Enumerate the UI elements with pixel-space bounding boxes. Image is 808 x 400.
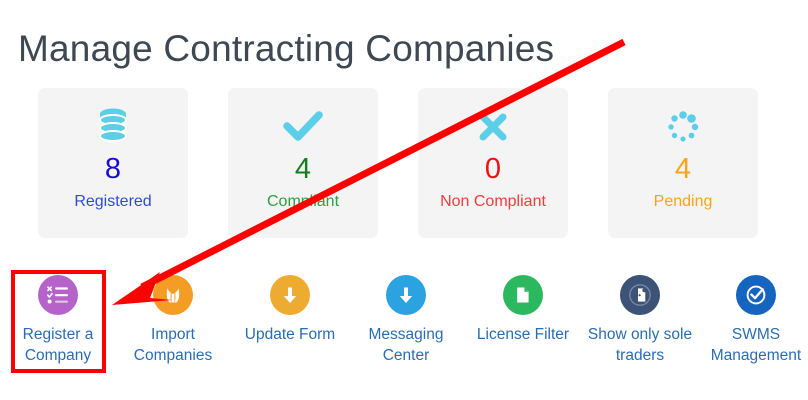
- action-swms-management[interactable]: SWMS Management: [700, 272, 808, 366]
- action-update-form[interactable]: Update Form: [234, 272, 346, 345]
- spinner-icon: [663, 104, 703, 150]
- action-show-only-sole-traders[interactable]: Show only sole traders: [584, 272, 696, 366]
- circle-check-icon: [736, 272, 776, 318]
- stat-card-pending[interactable]: 4 Pending: [608, 88, 758, 238]
- stat-card-registered[interactable]: 8 Registered: [38, 88, 188, 238]
- stat-value: 0: [485, 152, 501, 186]
- database-icon: [95, 104, 131, 150]
- stat-card-compliant[interactable]: 4 Compliant: [228, 88, 378, 238]
- action-register-a-company[interactable]: Register a Company: [2, 272, 114, 366]
- import-hands-icon: [153, 272, 193, 318]
- action-label: Show only sole traders: [584, 324, 696, 366]
- stat-value: 8: [105, 152, 121, 186]
- action-license-filter[interactable]: License Filter: [467, 272, 579, 345]
- stat-label: Pending: [618, 191, 748, 212]
- cross-icon: [476, 104, 510, 150]
- action-label: Messaging Center: [350, 324, 462, 366]
- action-import-companies[interactable]: Import Companies: [117, 272, 229, 366]
- stat-card-row: 8 Registered 4 Compliant 0 Non Compliant: [0, 88, 808, 240]
- stat-value: 4: [675, 152, 691, 186]
- check-icon: [283, 104, 323, 150]
- app-root: Manage Contracting Companies 8 Registere…: [0, 0, 808, 400]
- stat-value: 4: [295, 152, 311, 186]
- action-label: License Filter: [467, 324, 579, 345]
- stat-label: Compliant: [238, 191, 368, 212]
- action-button-row: Register a Company Import Companies: [0, 272, 808, 372]
- page-title: Manage Contracting Companies: [18, 28, 554, 70]
- checklist-icon: [38, 272, 78, 318]
- document-icon: [503, 272, 543, 318]
- stat-label: Registered: [48, 191, 178, 212]
- download-arrow-icon: [386, 272, 426, 318]
- stat-label: Non Compliant: [428, 191, 558, 212]
- action-label: SWMS Management: [700, 324, 808, 366]
- sole-trader-icon: [620, 272, 660, 318]
- action-label: Register a Company: [2, 324, 114, 366]
- download-arrow-icon: [270, 272, 310, 318]
- action-label: Update Form: [234, 324, 346, 345]
- action-label: Import Companies: [117, 324, 229, 366]
- stat-card-non-compliant[interactable]: 0 Non Compliant: [418, 88, 568, 238]
- action-messaging-center[interactable]: Messaging Center: [350, 272, 462, 366]
